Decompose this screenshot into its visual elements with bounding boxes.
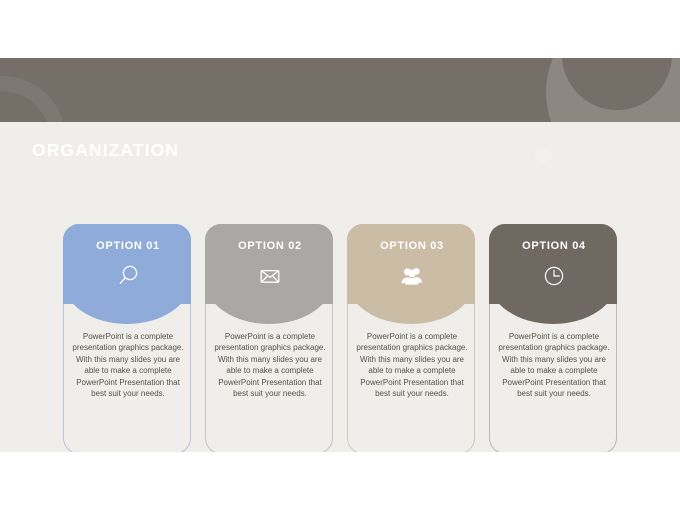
option-card-3-label: OPTION 03: [348, 240, 476, 252]
header-banner: [0, 58, 680, 122]
option-card-1-text: PowerPoint is a complete presentation gr…: [72, 331, 184, 399]
slide-canvas: ORGANIZATION OPTION 01 PowerPoint is a c…: [0, 0, 680, 510]
magnifier-icon: [64, 263, 192, 289]
users-icon: [348, 263, 476, 289]
option-card-1-label: OPTION 01: [64, 240, 192, 252]
option-card-2-label: OPTION 02: [206, 240, 334, 252]
clock-icon: [490, 263, 618, 289]
option-card-2-text: PowerPoint is a complete presentation gr…: [214, 331, 326, 399]
slide-content-area: ORGANIZATION OPTION 01 PowerPoint is a c…: [0, 58, 680, 452]
option-card-3[interactable]: OPTION 03 PowerPoint is a complete prese…: [347, 224, 475, 452]
envelope-icon: [206, 263, 334, 289]
option-card-1[interactable]: OPTION 01 PowerPoint is a complete prese…: [63, 224, 191, 452]
option-card-4-label: OPTION 04: [490, 240, 618, 252]
option-card-3-text: PowerPoint is a complete presentation gr…: [356, 331, 468, 399]
page-title: ORGANIZATION: [32, 140, 179, 161]
option-card-4[interactable]: OPTION 04 PowerPoint is a complete prese…: [489, 224, 617, 452]
option-card-2[interactable]: OPTION 02 PowerPoint is a complete prese…: [205, 224, 333, 452]
option-card-4-text: PowerPoint is a complete presentation gr…: [498, 331, 610, 399]
header-accent-dot: [535, 147, 552, 164]
